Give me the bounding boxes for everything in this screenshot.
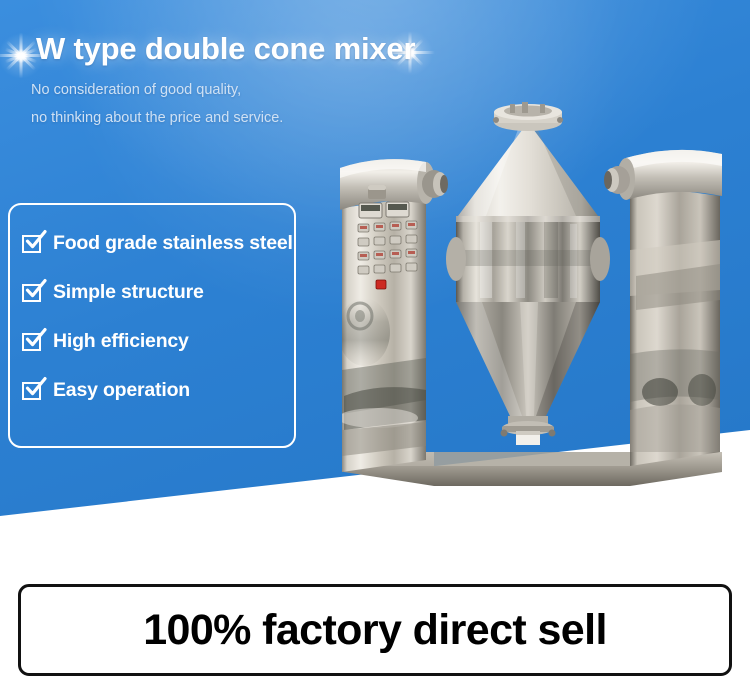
checkbox-checked-icon bbox=[22, 332, 44, 352]
feature-label: High efficiency bbox=[53, 330, 189, 353]
checkbox-checked-icon bbox=[22, 283, 44, 303]
w-type-double-cone-mixer-photo bbox=[330, 100, 750, 500]
top-manhole-lid bbox=[493, 102, 563, 131]
subtitle-line-2: no thinking about the price and service. bbox=[31, 110, 283, 126]
power-indicator-light bbox=[376, 280, 386, 289]
feature-label: Simple structure bbox=[53, 281, 204, 304]
subtitle-line-1: No consideration of good quality, bbox=[31, 82, 241, 98]
feature-item: Easy operation bbox=[22, 366, 294, 415]
feature-item: Simple structure bbox=[22, 268, 294, 317]
feature-label: Easy operation bbox=[53, 379, 190, 402]
bottom-banner: 100% factory direct sell bbox=[18, 584, 732, 676]
product-banner: W type double cone mixer No consideratio… bbox=[0, 0, 750, 693]
bottom-banner-text: 100% factory direct sell bbox=[143, 606, 607, 655]
feature-item: High efficiency bbox=[22, 317, 294, 366]
page-title: W type double cone mixer bbox=[36, 31, 415, 67]
double-cone-vessel bbox=[446, 102, 610, 445]
bottom-discharge-valve bbox=[501, 416, 556, 445]
feature-list-box: Food grade stainless steel Simple struct… bbox=[8, 203, 296, 448]
feature-label: Food grade stainless steel bbox=[53, 232, 293, 255]
right-trunnion bbox=[590, 237, 610, 281]
checkbox-checked-icon bbox=[22, 234, 44, 254]
right-support-leg bbox=[604, 150, 722, 466]
feature-item: Food grade stainless steel bbox=[22, 219, 294, 268]
checkbox-checked-icon bbox=[22, 381, 44, 401]
left-trunnion bbox=[446, 237, 466, 281]
